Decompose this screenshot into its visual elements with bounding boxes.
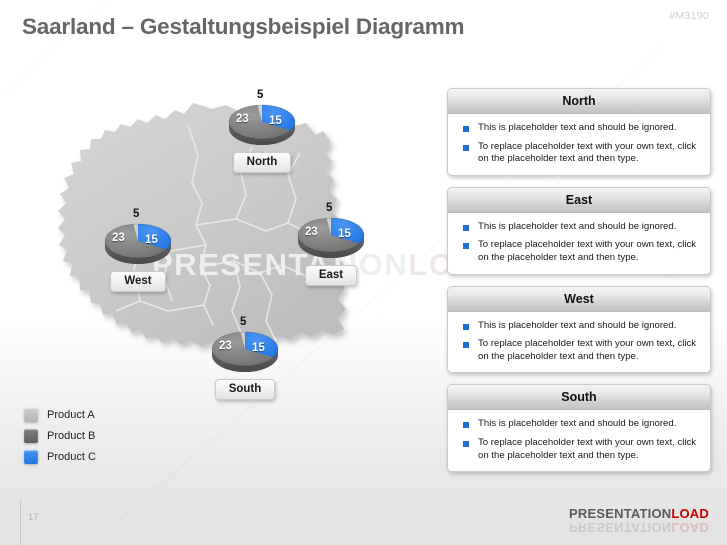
info-panel-north[interactable]: North This is placeholder text and shoul… — [447, 88, 711, 176]
info-panel-south[interactable]: South This is placeholder text and shoul… — [447, 384, 711, 472]
bullet-item[interactable]: To replace placeholder text with your ow… — [458, 437, 700, 462]
bullet-square-icon — [463, 126, 469, 132]
bullet-text: This is placeholder text and should be i… — [478, 221, 676, 234]
brand-logo: PRESENTATIONLOAD — [569, 506, 709, 521]
legend-item[interactable]: Product B — [24, 429, 96, 443]
region-label-north[interactable]: North — [233, 152, 292, 173]
region-label-east[interactable]: East — [305, 265, 357, 286]
pie-chart-south[interactable]: 23 15 5 — [207, 325, 283, 377]
pie-chart-north[interactable]: 23 15 5 — [224, 98, 300, 150]
bullet-square-icon — [463, 422, 469, 428]
bullet-text: This is placeholder text and should be i… — [478, 418, 676, 431]
page-number-divider — [20, 500, 21, 545]
brand-logo-reflection: PRESENTATIONLOAD — [569, 520, 709, 535]
bullet-text: To replace placeholder text with your ow… — [478, 338, 700, 363]
legend-swatch-product-a — [24, 408, 38, 422]
info-panel-list: North This is placeholder text and shoul… — [447, 88, 711, 483]
pie-chart-west[interactable]: 23 15 5 — [100, 217, 176, 269]
map-marker-east[interactable]: 23 15 5 East — [293, 211, 369, 286]
bullet-square-icon — [463, 441, 469, 447]
map-marker-north[interactable]: 23 15 5 North — [224, 98, 300, 173]
brand-reflection-main: PRESENTATION — [569, 520, 671, 535]
info-panel-east[interactable]: East This is placeholder text and should… — [447, 187, 711, 275]
bullet-text: To replace placeholder text with your ow… — [478, 437, 700, 462]
info-panel-west[interactable]: West This is placeholder text and should… — [447, 286, 711, 374]
region-label-west[interactable]: West — [110, 271, 165, 292]
bullet-item[interactable]: This is placeholder text and should be i… — [458, 221, 700, 234]
panel-title-north: North — [448, 89, 710, 114]
document-reference-code: #M3190 — [669, 10, 709, 22]
brand-reflection-accent: LOAD — [671, 520, 709, 535]
bullet-item[interactable]: This is placeholder text and should be i… — [458, 320, 700, 333]
legend-swatch-product-b — [24, 429, 38, 443]
map-marker-south[interactable]: 23 15 5 South — [207, 325, 283, 400]
bullet-item[interactable]: To replace placeholder text with your ow… — [458, 141, 700, 166]
brand-accent-text: LOAD — [671, 506, 709, 521]
bullet-item[interactable]: To replace placeholder text with your ow… — [458, 239, 700, 264]
panel-title-south: South — [448, 385, 710, 410]
panel-title-east: East — [448, 188, 710, 213]
bullet-square-icon — [463, 342, 469, 348]
bullet-text: To replace placeholder text with your ow… — [478, 141, 700, 166]
region-label-south[interactable]: South — [215, 379, 276, 400]
legend-item[interactable]: Product A — [24, 408, 96, 422]
panel-body-west: This is placeholder text and should be i… — [448, 312, 710, 373]
chart-legend: Product A Product B Product C — [24, 408, 96, 471]
page-title: Saarland – Gestaltungsbeispiel Diagramm — [22, 14, 464, 40]
legend-label-product-a: Product A — [47, 409, 95, 421]
slide-canvas: Saarland – Gestaltungsbeispiel Diagramm … — [0, 0, 727, 545]
bullet-square-icon — [463, 145, 469, 151]
legend-item[interactable]: Product C — [24, 450, 96, 464]
bullet-item[interactable]: This is placeholder text and should be i… — [458, 122, 700, 135]
panel-body-north: This is placeholder text and should be i… — [448, 114, 710, 175]
bullet-text: This is placeholder text and should be i… — [478, 320, 676, 333]
bullet-text: To replace placeholder text with your ow… — [478, 239, 700, 264]
panel-body-south: This is placeholder text and should be i… — [448, 410, 710, 471]
page-number: 17 — [28, 512, 39, 523]
legend-label-product-b: Product B — [47, 430, 95, 442]
bullet-square-icon — [463, 324, 469, 330]
legend-label-product-c: Product C — [47, 451, 96, 463]
bullet-item[interactable]: This is placeholder text and should be i… — [458, 418, 700, 431]
legend-swatch-product-c — [24, 450, 38, 464]
bullet-square-icon — [463, 243, 469, 249]
map-marker-west[interactable]: 23 15 5 West — [100, 217, 176, 292]
bullet-text: This is placeholder text and should be i… — [478, 122, 676, 135]
panel-title-west: West — [448, 287, 710, 312]
bullet-square-icon — [463, 225, 469, 231]
bullet-item[interactable]: To replace placeholder text with your ow… — [458, 338, 700, 363]
brand-main-text: PRESENTATION — [569, 506, 671, 521]
panel-body-east: This is placeholder text and should be i… — [448, 213, 710, 274]
pie-chart-east[interactable]: 23 15 5 — [293, 211, 369, 263]
